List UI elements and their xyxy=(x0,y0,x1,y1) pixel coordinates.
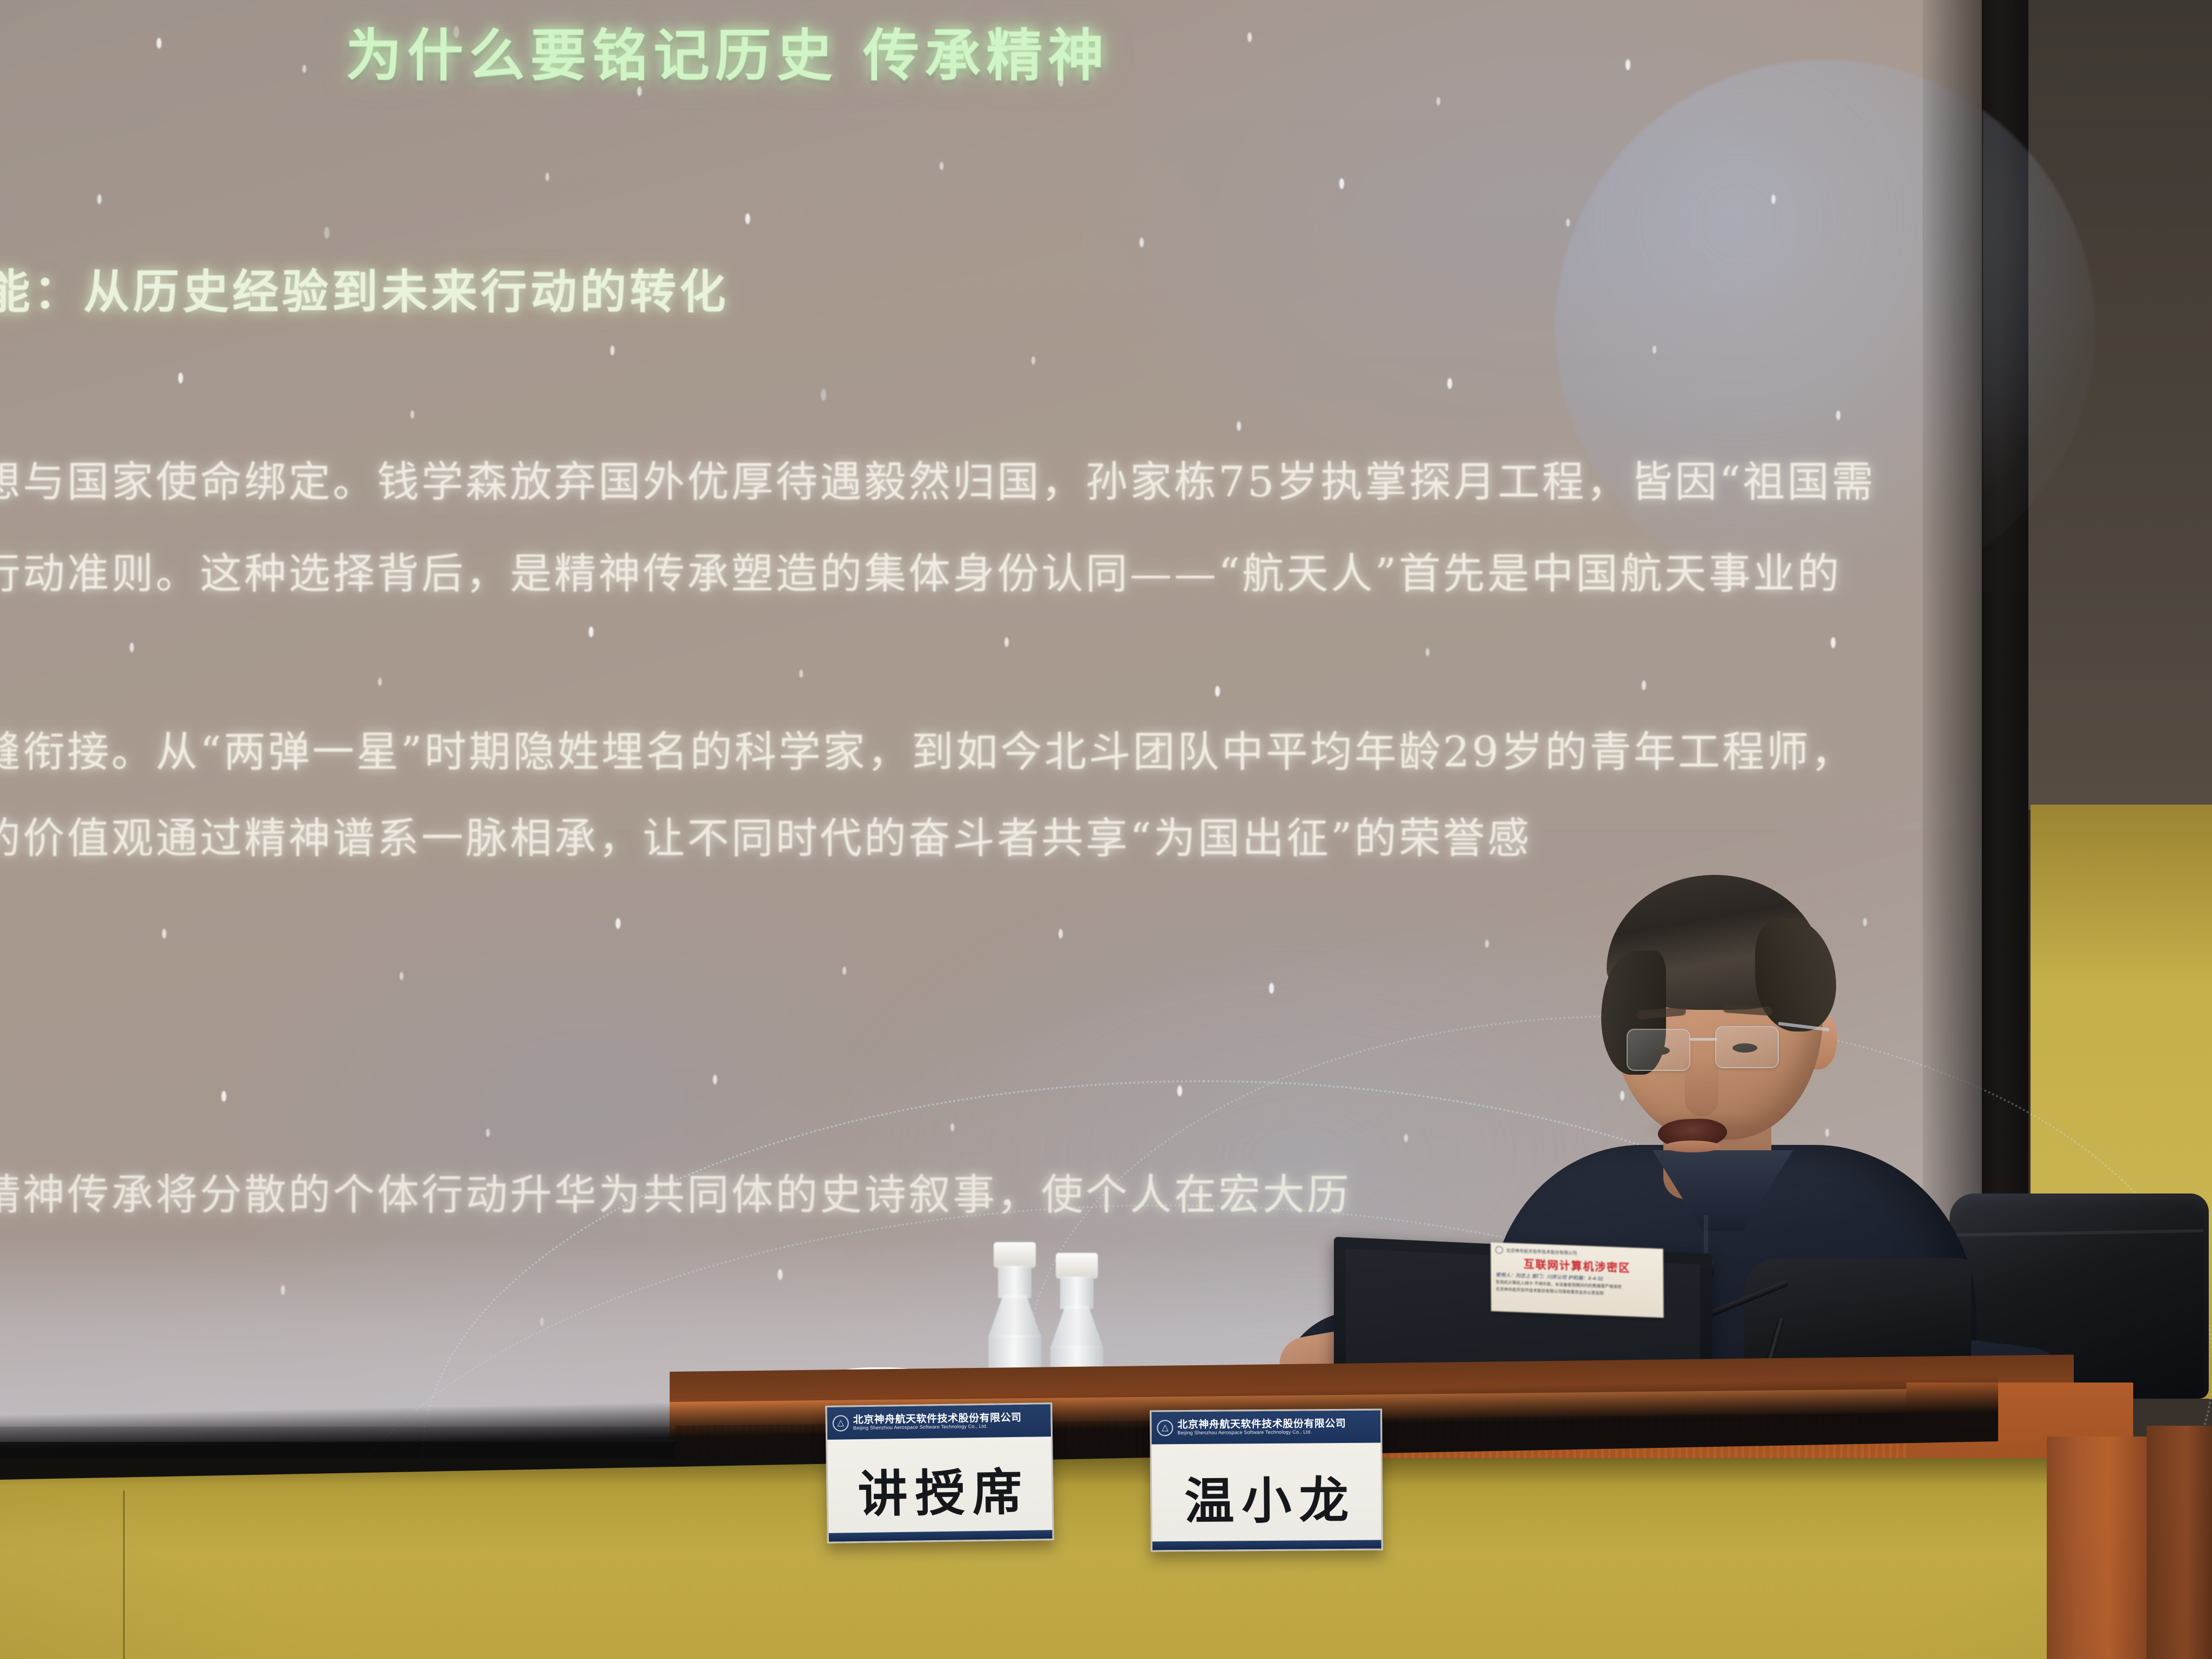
slide-body-line: 想与国家使命绑定。钱学森放弃国外优厚待遇毅然归国，孙家栋75岁执掌探月工程，皆因… xyxy=(0,448,1876,509)
star-dot xyxy=(745,213,750,224)
slide-body-line: 精神传承将分散的个体行动升华为共同体的史诗叙事，使个人在宏大历 xyxy=(0,1161,1351,1222)
bottle-cap xyxy=(1056,1253,1098,1279)
star-dot xyxy=(1831,637,1836,648)
presenter-nose xyxy=(1685,1056,1718,1116)
star-dot xyxy=(1058,929,1063,939)
star-dot xyxy=(178,373,183,383)
star-dot xyxy=(1247,32,1252,42)
star-dot xyxy=(130,643,134,652)
nameplate-company-cn: 北京神舟航天软件技术股份有限公司 xyxy=(1177,1419,1346,1431)
star-dot xyxy=(1620,1091,1624,1101)
eyeglasses-bridge xyxy=(1689,1038,1717,1041)
star-dot xyxy=(616,918,621,929)
nameplate-lecturer-seat: △ 北京神舟航天软件技术股份有限公司 Beijing Shenzhou Aero… xyxy=(825,1402,1054,1543)
star-dot xyxy=(1269,983,1274,994)
star-dot xyxy=(1447,378,1452,389)
star-dot xyxy=(97,194,102,204)
star-dot xyxy=(1771,194,1776,204)
aerospace-logo-icon xyxy=(1495,1246,1503,1254)
star-dot xyxy=(1215,686,1220,697)
eyeglasses-lens-right xyxy=(1715,1026,1779,1068)
star-dot xyxy=(713,1075,717,1084)
star-dot xyxy=(1004,637,1009,647)
star-dot xyxy=(1836,410,1840,420)
photo-scene: 为什么要铭记历史 传承精神 能：从历史经验到未来行动的转化 想与国家使命绑定。钱… xyxy=(0,0,2212,1659)
nameplate-header: △ 北京神舟航天软件技术股份有限公司 Beijing Shenzhou Aero… xyxy=(827,1404,1051,1440)
bottle-cap xyxy=(994,1242,1036,1268)
star-dot xyxy=(1339,178,1344,189)
slide-body-line: 行动准则。这种选择背后，是精神传承塑造的集体身份认同——“航天人”首先是中国航天… xyxy=(0,540,1842,601)
slide-subtitle: 能：从历史经验到未来行动的转化 xyxy=(0,254,729,321)
star-dot xyxy=(610,346,615,355)
bottle-shoulder xyxy=(1050,1306,1103,1348)
nameplate-text: 温小龙 xyxy=(1152,1443,1381,1550)
wood-column-secondary xyxy=(2147,1426,2212,1659)
nameplate-company-en: Beijing Shenzhou Aerospace Software Tech… xyxy=(1177,1429,1346,1436)
star-dot xyxy=(1642,680,1646,690)
laptop-security-sticker: 北京神舟航天软件技术股份有限公司 互联网计算机涉密区 使用人：刘志上 部门：川庆… xyxy=(1491,1242,1664,1318)
star-dot xyxy=(1626,59,1630,70)
eyeglasses-lens-left xyxy=(1627,1029,1690,1071)
bottle-shoulder xyxy=(988,1295,1041,1337)
star-dot xyxy=(1177,1085,1182,1096)
slide-body-line: 的价值观通过精神谱系一脉相承，让不同时代的奋斗者共享“为国出征”的荣誉感 xyxy=(0,805,1532,865)
star-dot xyxy=(821,389,826,401)
star-dot xyxy=(1139,238,1144,247)
star-dot xyxy=(162,929,166,939)
nameplate-header: △ 北京神舟航天软件技术股份有限公司 Beijing Shenzhou Aero… xyxy=(1151,1411,1380,1445)
slide-planet-graphic xyxy=(1555,59,2095,599)
slide-title: 为什么要铭记历史 传承精神 xyxy=(346,10,1109,91)
star-dot xyxy=(1237,421,1241,431)
wood-column xyxy=(2047,1437,2149,1659)
nameplate-text: 讲授席 xyxy=(827,1437,1053,1542)
nameplate-company-en: Beijing Shenzhou Aerospace Software Tech… xyxy=(853,1424,1022,1431)
nameplate-base xyxy=(1152,1540,1381,1550)
nameplate-speaker-name: △ 北京神舟航天软件技术股份有限公司 Beijing Shenzhou Aero… xyxy=(1150,1409,1383,1552)
star-dot xyxy=(324,227,329,239)
star-dot xyxy=(221,1091,226,1102)
bottle-neck xyxy=(1060,1277,1094,1309)
presenter-lower-lip xyxy=(1664,1141,1721,1152)
star-dot xyxy=(589,626,594,637)
wall-panel-seam xyxy=(123,1491,125,1659)
slide-body-line: 缝衔接。从“两弹一星”时期隐姓埋名的科学家，到如今北斗团队中平均年龄29岁的青年… xyxy=(0,718,1855,779)
aerospace-logo-icon: △ xyxy=(832,1415,848,1431)
aerospace-logo-icon: △ xyxy=(1157,1420,1173,1436)
bottle-neck xyxy=(998,1266,1031,1298)
star-dot xyxy=(157,38,161,49)
